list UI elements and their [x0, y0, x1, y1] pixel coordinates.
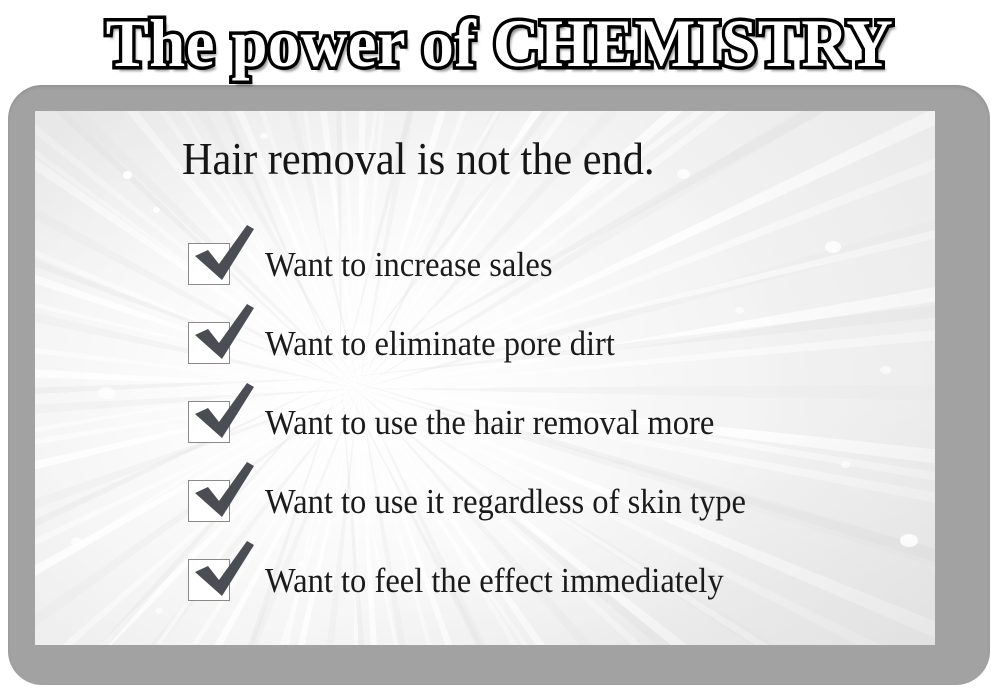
list-item[interactable]: Want to use it regardless of skin type	[188, 480, 928, 559]
bokeh-dot	[677, 169, 690, 179]
check-icon	[186, 383, 258, 447]
check-icon	[186, 541, 258, 605]
list-item-label: Want to eliminate pore dirt	[265, 323, 615, 365]
list-item-label: Want to increase sales	[265, 244, 553, 286]
checkbox-checked[interactable]	[188, 243, 254, 291]
bokeh-dot	[153, 207, 160, 213]
list-item[interactable]: Want to increase sales	[188, 243, 928, 322]
check-icon	[186, 462, 258, 526]
list-item[interactable]: Want to use the hair removal more	[188, 401, 928, 480]
list-item-label: Want to use it regardless of skin type	[265, 481, 746, 523]
check-icon	[186, 225, 258, 289]
bokeh-dot	[155, 608, 163, 614]
bokeh-dot	[123, 171, 132, 179]
list-item-label: Want to use the hair removal more	[265, 402, 714, 444]
title-banner: The power of CHEMISTRY	[0, 0, 1000, 86]
slide-root: The power of CHEMISTRY Hair removal is n…	[0, 0, 1000, 693]
bokeh-dot	[71, 537, 82, 546]
panel-heading: Hair removal is not the end.	[182, 132, 654, 186]
bokeh-dot	[98, 387, 115, 399]
checkbox-checked[interactable]	[188, 401, 254, 449]
page-title: The power of CHEMISTRY	[106, 7, 894, 79]
check-icon	[186, 304, 258, 368]
checkbox-checked[interactable]	[188, 322, 254, 370]
list-item[interactable]: Want to eliminate pore dirt	[188, 322, 928, 401]
checkbox-checked[interactable]	[188, 480, 254, 528]
list-item[interactable]: Want to feel the effect immediately	[188, 559, 928, 638]
checklist: Want to increase sales Want to eliminate…	[188, 243, 928, 638]
list-item-label: Want to feel the effect immediately	[265, 560, 724, 602]
checkbox-checked[interactable]	[188, 559, 254, 607]
